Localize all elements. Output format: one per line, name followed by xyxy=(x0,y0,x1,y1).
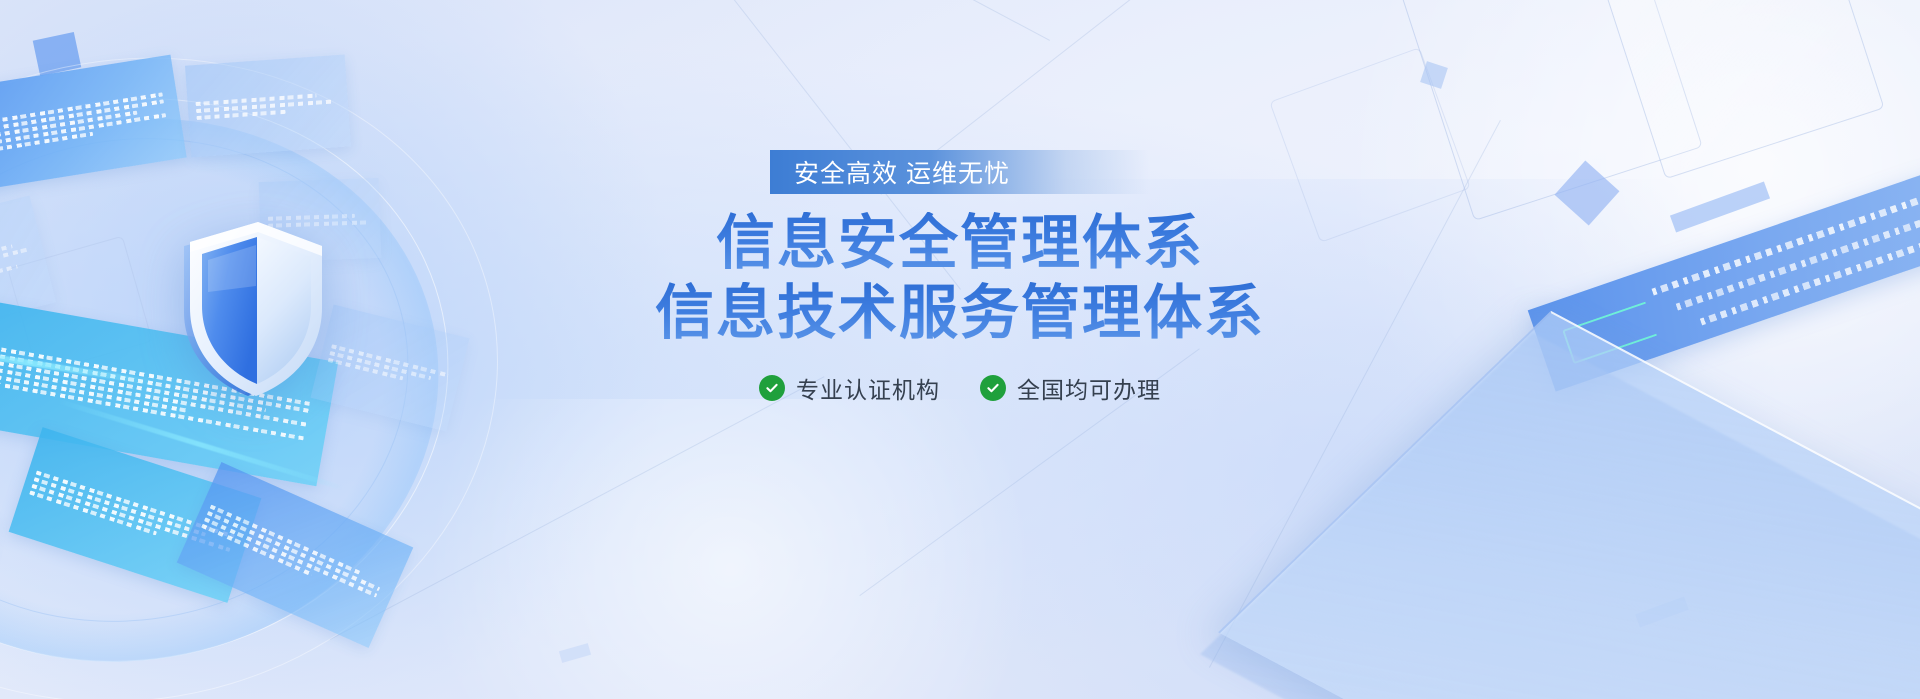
eyebrow-badge: 安全高效 运维无忧 xyxy=(770,150,1150,194)
hero-content: 安全高效 运维无忧 信息安全管理体系 信息技术服务管理体系 专业认证机构 xyxy=(0,150,1920,405)
page-title-line-1: 信息安全管理体系 xyxy=(716,212,1204,276)
data-tile xyxy=(185,55,351,158)
feature-label: 专业认证机构 xyxy=(796,371,940,405)
page-title-line-2: 信息技术服务管理体系 xyxy=(655,282,1265,346)
check-circle-icon xyxy=(759,375,785,401)
decor-bar xyxy=(559,643,591,663)
data-tile xyxy=(9,427,262,603)
decor-square xyxy=(33,32,82,76)
feature-list: 专业认证机构 全国均可办理 xyxy=(759,371,1161,405)
feature-item-1: 全国均可办理 xyxy=(980,371,1161,405)
background-glow-bottom-center xyxy=(380,399,1080,699)
diagonal-line xyxy=(329,376,824,640)
check-circle-icon xyxy=(980,375,1006,401)
diagonal-line xyxy=(785,0,1050,41)
hero-banner: 安全高效 运维无忧 信息安全管理体系 信息技术服务管理体系 专业认证机构 xyxy=(0,0,1920,699)
feature-item-0: 专业认证机构 xyxy=(759,371,940,405)
eyebrow-text: 安全高效 运维无忧 xyxy=(794,154,1010,190)
decor-light-streak xyxy=(56,398,344,490)
decor-square xyxy=(1420,61,1448,89)
feature-label: 全国均可办理 xyxy=(1017,371,1161,405)
data-tile xyxy=(177,462,414,648)
